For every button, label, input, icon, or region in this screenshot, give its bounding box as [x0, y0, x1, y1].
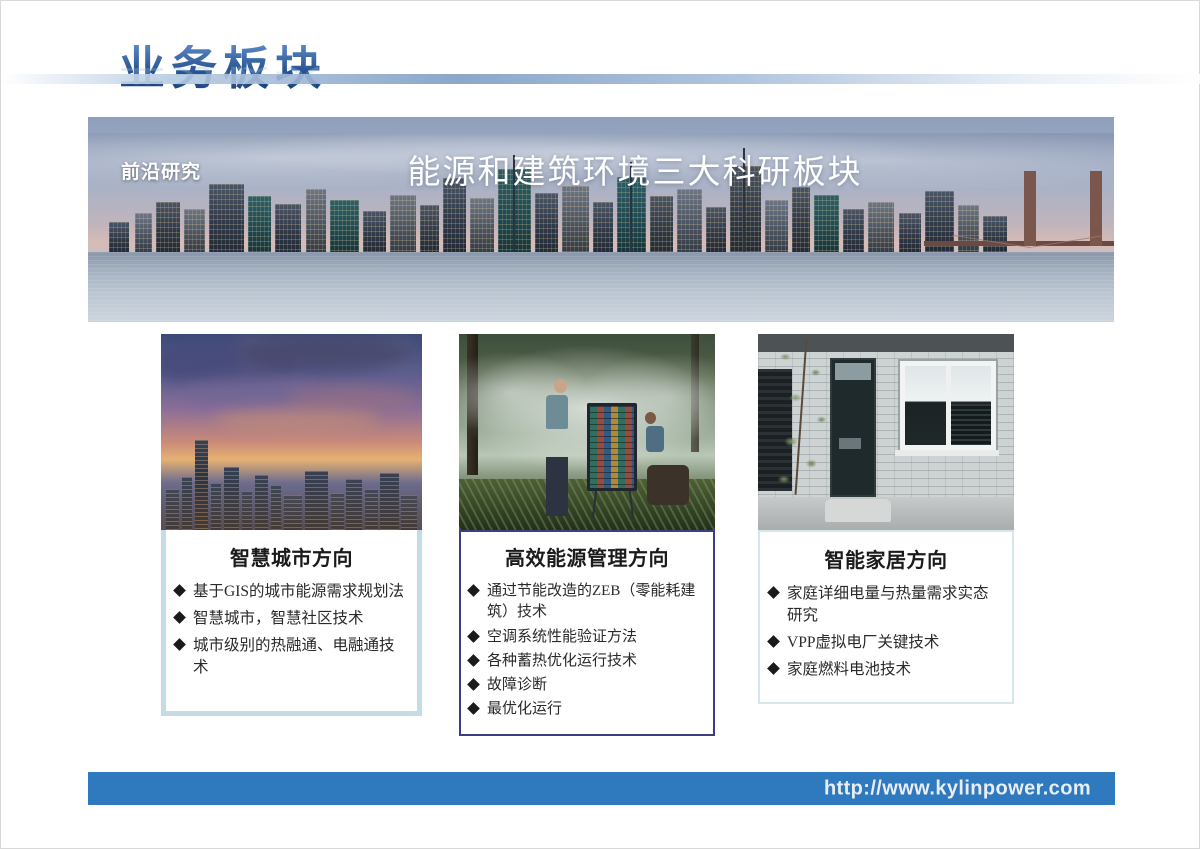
diamond-bullet-icon	[767, 662, 780, 675]
bullet-text: 空调系统性能验证方法	[487, 627, 705, 648]
card-photo-smart-city	[161, 334, 422, 530]
list-item: 基于GIS的城市能源需求规划法	[175, 581, 408, 603]
bullet-text: VPP虚拟电厂关键技术	[787, 632, 1003, 654]
hero-banner: 前沿研究 能源和建筑环境三大科研板块	[88, 117, 1114, 322]
page-title-block: 业务板块 业务板块	[119, 45, 519, 125]
card-smart-home[interactable]: 智能家居方向 家庭详细电量与热量需求实态研究 VPP虚拟电厂关键技术 家庭燃料电…	[758, 334, 1014, 704]
bullet-text: 各种蓄热优化运行技术	[487, 651, 705, 672]
bullet-text: 城市级别的热融通、电融通技术	[193, 635, 408, 679]
diamond-bullet-icon	[467, 703, 480, 716]
card-title: 高效能源管理方向	[469, 542, 705, 571]
list-item: 智慧城市，智慧社区技术	[175, 608, 408, 630]
list-item: 家庭详细电量与热量需求实态研究	[769, 583, 1003, 627]
list-item: VPP虚拟电厂关键技术	[769, 632, 1003, 654]
card-row: 智慧城市方向 基于GIS的城市能源需求规划法 智慧城市，智慧社区技术 城市级别的…	[1, 334, 1200, 734]
diamond-bullet-icon	[173, 611, 186, 624]
list-item: 城市级别的热融通、电融通技术	[175, 635, 408, 679]
bullet-text: 通过节能改造的ZEB（零能耗建筑）技术	[487, 581, 705, 624]
list-item: 空调系统性能验证方法	[469, 627, 705, 648]
bullet-list: 家庭详细电量与热量需求实态研究 VPP虚拟电厂关键技术 家庭燃料电池技术	[769, 583, 1003, 681]
card-energy-management[interactable]: 高效能源管理方向 通过节能改造的ZEB（零能耗建筑）技术 空调系统性能验证方法 …	[459, 334, 715, 736]
card-text-smart-city: 智慧城市方向 基于GIS的城市能源需求规划法 智慧城市，智慧社区技术 城市级别的…	[161, 530, 422, 716]
card-photo-smart-home	[758, 334, 1014, 530]
footer-url-link[interactable]: http://www.kylinpower.com	[824, 777, 1091, 800]
card-text-energy-management: 高效能源管理方向 通过节能改造的ZEB（零能耗建筑）技术 空调系统性能验证方法 …	[459, 530, 715, 736]
bullet-list: 基于GIS的城市能源需求规划法 智慧城市，智慧社区技术 城市级别的热融通、电融通…	[175, 581, 408, 679]
list-item: 通过节能改造的ZEB（零能耗建筑）技术	[469, 581, 705, 624]
bullet-text: 智慧城市，智慧社区技术	[193, 608, 408, 630]
title-divider-rule	[1, 74, 1200, 84]
diamond-bullet-icon	[173, 638, 186, 651]
diamond-bullet-icon	[467, 630, 480, 643]
diamond-bullet-icon	[767, 586, 780, 599]
diamond-bullet-icon	[173, 584, 186, 597]
card-smart-city[interactable]: 智慧城市方向 基于GIS的城市能源需求规划法 智慧城市，智慧社区技术 城市级别的…	[161, 334, 422, 716]
diamond-bullet-icon	[767, 635, 780, 648]
diamond-bullet-icon	[467, 584, 480, 597]
bullet-list: 通过节能改造的ZEB（零能耗建筑）技术 空调系统性能验证方法 各种蓄热优化运行技…	[469, 581, 705, 721]
diamond-bullet-icon	[467, 654, 480, 667]
slide-page: 业务板块 业务板块	[0, 0, 1200, 849]
card-text-smart-home: 智能家居方向 家庭详细电量与热量需求实态研究 VPP虚拟电厂关键技术 家庭燃料电…	[758, 530, 1014, 704]
list-item: 家庭燃料电池技术	[769, 659, 1003, 681]
bullet-text: 最优化运行	[487, 699, 705, 720]
bullet-text: 故障诊断	[487, 675, 705, 696]
list-item: 各种蓄热优化运行技术	[469, 651, 705, 672]
footer-bar: http://www.kylinpower.com	[88, 772, 1115, 805]
list-item: 最优化运行	[469, 699, 705, 720]
banner-title: 能源和建筑环境三大科研板块	[88, 145, 1114, 193]
diamond-bullet-icon	[467, 678, 480, 691]
bullet-text: 基于GIS的城市能源需求规划法	[193, 581, 408, 603]
bullet-text: 家庭详细电量与热量需求实态研究	[787, 583, 1003, 627]
banner-water	[88, 252, 1114, 322]
card-title: 智慧城市方向	[175, 542, 408, 571]
bullet-text: 家庭燃料电池技术	[787, 659, 1003, 681]
card-photo-energy-management	[459, 334, 715, 530]
list-item: 故障诊断	[469, 675, 705, 696]
card-title: 智能家居方向	[769, 544, 1003, 573]
